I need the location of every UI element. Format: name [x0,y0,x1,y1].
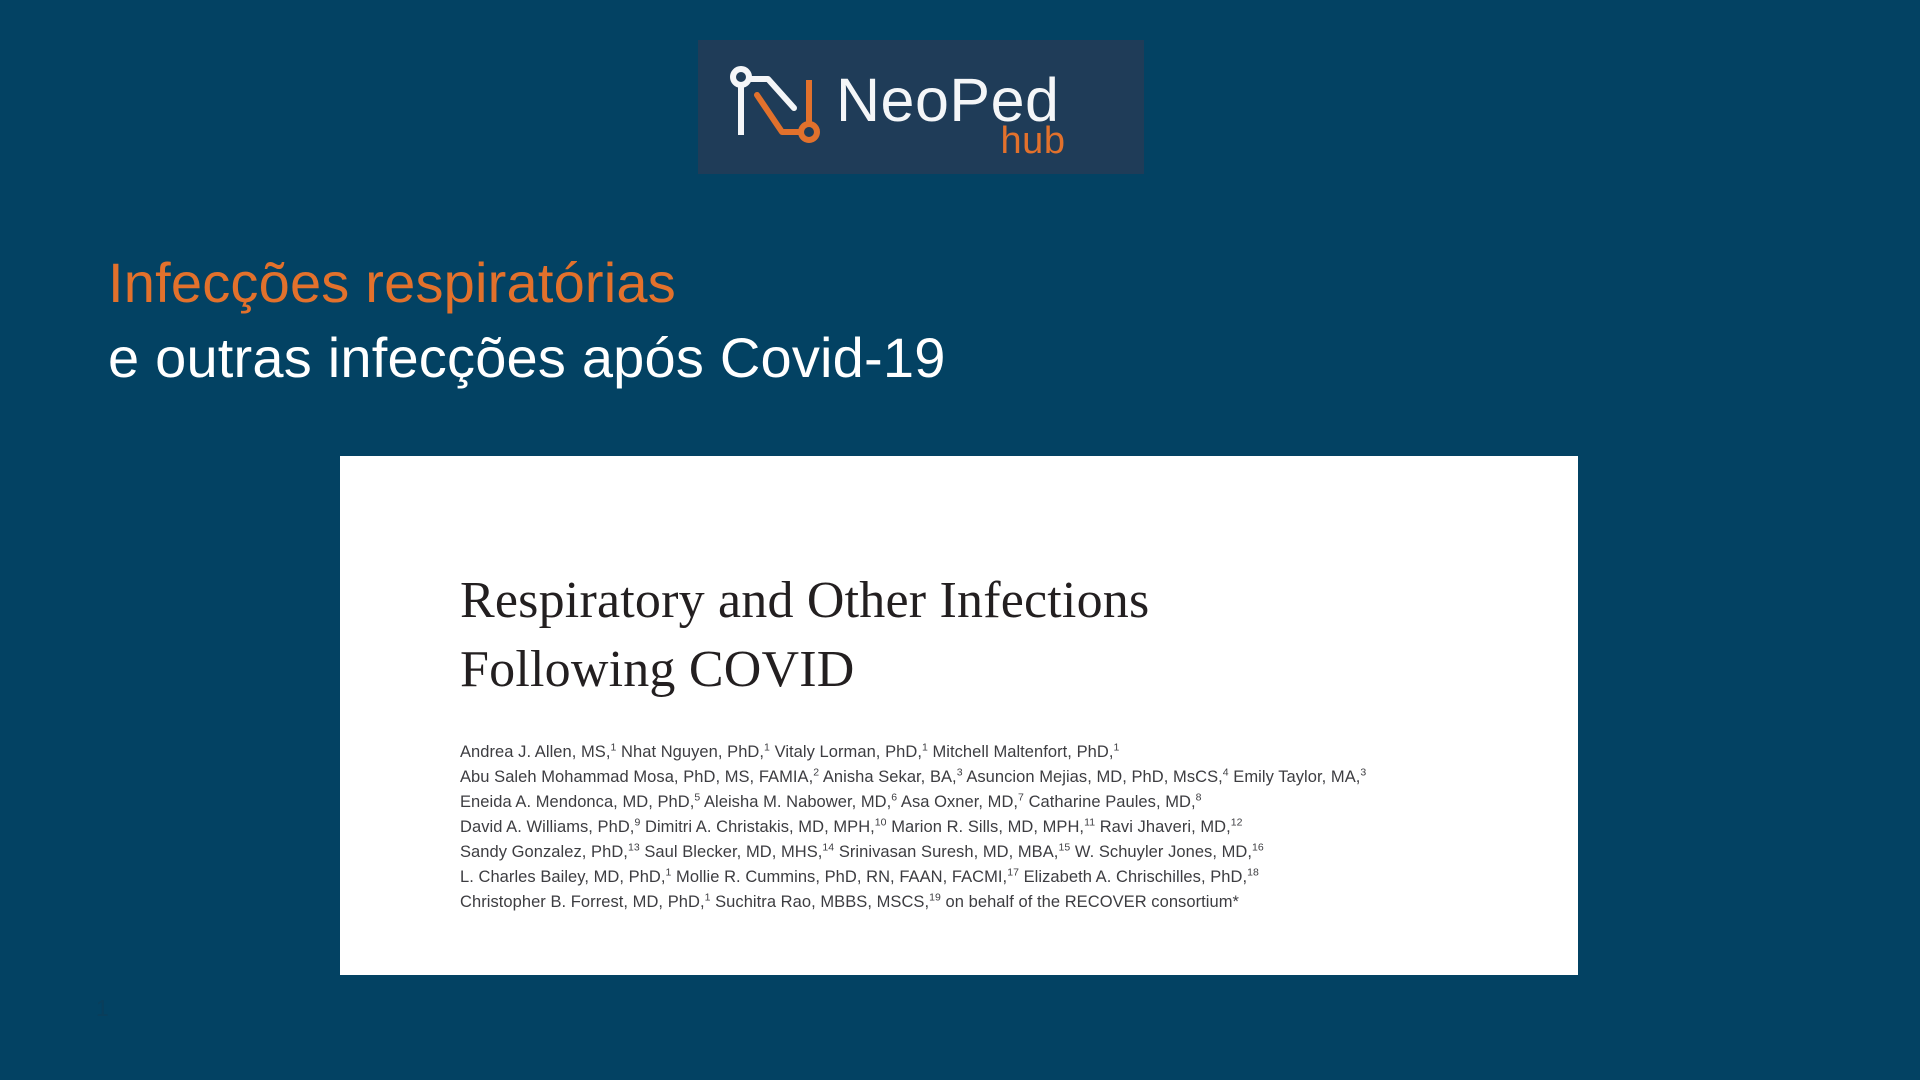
paper-screenshot-card: Respiratory and Other Infections Followi… [340,456,1578,975]
neoped-hub-logo: NeoPed hub [698,40,1144,174]
author-line: David A. Williams, PhD,9 Dimitri A. Chri… [460,815,1520,840]
logo-wordmark: NeoPed hub [836,64,1059,150]
slide-root: NeoPed hub Infecções respiratórias e out… [0,0,1920,1080]
paper-title-line-2: Following COVID [460,635,1420,704]
headline-line-1: Infecções respiratórias [108,245,1508,320]
slide-headline: Infecções respiratórias e outras infecçõ… [108,245,1508,395]
author-line: L. Charles Bailey, MD, PhD,1 Mollie R. C… [460,865,1520,890]
paper-title-line-1: Respiratory and Other Infections [460,566,1420,635]
neoped-line-chart-icon [724,62,828,148]
paper-author-list: Andrea J. Allen, MS,1 Nhat Nguyen, PhD,1… [460,740,1520,915]
logo-wordmark-sub: hub [1001,122,1066,160]
headline-line-2: e outras infecções após Covid-19 [108,320,1508,395]
author-line: Christopher B. Forrest, MD, PhD,1 Suchit… [460,890,1520,915]
page-number: 1 [96,995,109,1021]
author-line: Sandy Gonzalez, PhD,13 Saul Blecker, MD,… [460,840,1520,865]
author-line: Eneida A. Mendonca, MD, PhD,5 Aleisha M.… [460,790,1520,815]
author-line: Abu Saleh Mohammad Mosa, PhD, MS, FAMIA,… [460,765,1520,790]
author-line: Andrea J. Allen, MS,1 Nhat Nguyen, PhD,1… [460,740,1520,765]
paper-title: Respiratory and Other Infections Followi… [460,566,1420,704]
